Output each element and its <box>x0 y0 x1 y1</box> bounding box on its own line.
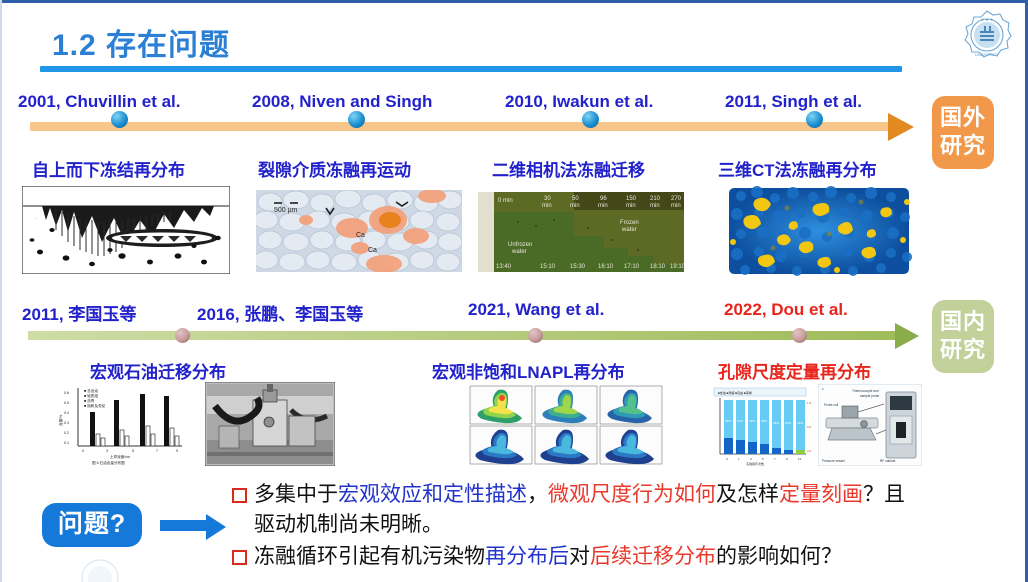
svg-text:Probe coil: Probe coil <box>824 403 838 407</box>
q2-seg3: 对 <box>569 545 590 568</box>
svg-text:0.3: 0.3 <box>64 421 69 425</box>
badge-foreign-line2: 研究 <box>932 132 994 160</box>
svg-text:0.1: 0.1 <box>64 441 69 445</box>
svg-text:500 µm: 500 µm <box>274 207 298 214</box>
svg-text:45%: 45% <box>725 419 731 423</box>
svg-text:Thermocouple and: Thermocouple and <box>852 389 879 393</box>
svg-text:Ca: Ca <box>356 232 365 239</box>
svg-text:32%: 32% <box>785 421 791 425</box>
svg-text:1.0: 1.0 <box>807 401 812 405</box>
q1-seg4: 微观尺度行为如何 <box>548 483 716 506</box>
svg-text:7: 7 <box>156 449 158 453</box>
svg-text:min: min <box>650 203 660 209</box>
question-bullet-1-line1: 多集中于宏观效应和定性描述，微观尺度行为如何及怎样定量刻画？且 <box>254 480 905 509</box>
svg-text:0 min: 0 min <box>498 198 513 204</box>
question-arrow-shaft <box>160 520 206 531</box>
timeline2-entry1-year: 2011, 李国玉等 <box>22 300 136 325</box>
timeline1-entry1-caption: 自上而下冻结再分布 <box>32 156 185 181</box>
watermark-seal-icon <box>78 556 122 582</box>
svg-text:min: min <box>542 203 552 209</box>
thumb-lnapl-contour-grid <box>468 384 664 466</box>
svg-text:50: 50 <box>572 196 579 202</box>
question-badge: 问题? <box>42 503 142 547</box>
svg-text:3: 3 <box>106 449 108 453</box>
timeline1-entry3-caption: 二维相机法冻融迁移 <box>492 156 645 181</box>
svg-text:0.4: 0.4 <box>64 411 69 415</box>
timeline1-marker-4[interactable] <box>806 111 823 128</box>
timeline2-arrowhead <box>895 323 919 349</box>
svg-text:Frozen: Frozen <box>620 220 639 226</box>
svg-text:■ 饱和及芳烃: ■ 饱和及芳烃 <box>84 403 106 408</box>
badge-domestic-line2: 研究 <box>932 336 994 364</box>
q1-line2-seg1: 驱动机制尚未明晰。 <box>254 513 443 536</box>
svg-text:■ 沥青: ■ 沥青 <box>84 398 95 403</box>
svg-text:17:10: 17:10 <box>624 264 640 270</box>
thumb-frozen-soil-schematic: ·· <box>22 186 230 274</box>
timeline1-entry1-year: 2001, Chuvillin et al. <box>18 92 181 112</box>
question-bullet-1-line2: 驱动机制尚未明晰。 <box>254 510 443 539</box>
thumb-ct-3d-render <box>717 182 922 280</box>
svg-text:■含油 ■残留 ■自由 ■束缚: ■含油 ■残留 ■自由 ■束缚 <box>718 390 752 395</box>
svg-text:water: water <box>621 227 637 233</box>
svg-text:含量/%: 含量/% <box>58 414 63 426</box>
svg-text:0.6: 0.6 <box>64 391 69 395</box>
question-bullet-2-line1: 冻融循环引起有机污染物再分布后对后续迁移分布的影响如何？ <box>254 542 842 571</box>
thumb-camera-timeseries: 0 min 30min 50min 96min 150min 210min 27… <box>478 192 684 272</box>
timeline2-marker-1[interactable] <box>175 328 190 343</box>
timeline1-bar <box>30 122 892 131</box>
timeline1-entry4-caption: 三维CT法冻融再分布 <box>718 156 877 181</box>
svg-text:0.5: 0.5 <box>807 425 812 429</box>
slide-border-top <box>0 0 1028 3</box>
timeline2-bar <box>28 331 898 340</box>
timeline1-entry2-year: 2008, Niven and Singh <box>252 92 432 112</box>
svg-text:19:10: 19:10 <box>670 264 684 270</box>
question-arrow-head <box>206 514 226 540</box>
badge-domestic-line1: 国内 <box>932 308 994 336</box>
svg-text:图 6 石油含量分布图: 图 6 石油含量分布图 <box>92 460 125 465</box>
svg-text:270: 270 <box>671 196 682 202</box>
svg-text:■ 总含油: ■ 总含油 <box>84 388 98 393</box>
q1-seg5: 及怎样 <box>716 483 779 506</box>
svg-text:38%: 38% <box>761 419 767 423</box>
svg-text:40%: 40% <box>749 419 755 423</box>
svg-text:150: 150 <box>626 196 637 202</box>
q1-seg7: ？且 <box>863 483 905 506</box>
svg-text:0.5: 0.5 <box>64 401 69 405</box>
q1-seg2: 宏观效应和定性描述 <box>338 483 527 506</box>
svg-text:210: 210 <box>650 196 661 202</box>
svg-text:42%: 42% <box>737 419 743 423</box>
svg-text:冻融循环次数: 冻融循环次数 <box>746 461 764 466</box>
thumb-pore-stacked-bar-chart: ■含油 ■残留 ■自由 ■束缚 45%42%40 <box>708 384 812 466</box>
svg-text:18:10: 18:10 <box>650 264 666 270</box>
svg-text:★ ★ ★: ★ ★ ★ <box>981 17 994 22</box>
badge-domestic-research: 国内 研究 <box>932 300 994 373</box>
svg-text:■ 轻质组: ■ 轻质组 <box>84 393 98 398</box>
slide-canvas: 1.2 存在问题 ★ ★ ★ UNIVERSITY 2001, Chuvilli… <box>0 0 1028 582</box>
svg-text:Pressure vessel: Pressure vessel <box>822 459 845 463</box>
timeline2-entry1-caption: 宏观石油迁移分布 <box>90 358 226 383</box>
page-title: 1.2 存在问题 <box>52 20 230 64</box>
svg-text:30: 30 <box>544 196 551 202</box>
badge-foreign-research: 国外 研究 <box>932 96 994 169</box>
q1-seg3: ， <box>527 483 548 506</box>
university-seal-icon: ★ ★ ★ UNIVERSITY <box>960 8 1014 62</box>
thumb-nmr-equipment-diagram: c Thermocouple and sample probe Probe co… <box>818 384 922 466</box>
svg-text:16:10: 16:10 <box>598 264 614 270</box>
timeline1-arrowhead <box>888 113 914 141</box>
svg-text:min: min <box>570 203 580 209</box>
svg-text:5: 5 <box>132 449 134 453</box>
svg-text:12: 12 <box>798 457 802 461</box>
q2-seg1: 冻融循环引起有机污染物 <box>254 545 485 568</box>
timeline1-marker-3[interactable] <box>582 111 599 128</box>
svg-text:UNIVERSITY: UNIVERSITY <box>975 52 999 57</box>
timeline1-entry3-year: 2010, Iwakun et al. <box>505 92 653 112</box>
thumb-lab-apparatus-photo: (c) 油污染模拟装置 <box>205 382 335 466</box>
timeline2-entry3-caption: 宏观非饱和LNAPL再分布 <box>432 358 625 383</box>
q1-seg1: 多集中于 <box>254 483 338 506</box>
timeline2-marker-3[interactable] <box>792 328 807 343</box>
q1-seg6: 定量刻画 <box>779 483 863 506</box>
timeline1-marker-2[interactable] <box>348 111 365 128</box>
svg-text:0: 0 <box>82 449 84 453</box>
svg-text:Unfrozen: Unfrozen <box>508 242 532 248</box>
svg-text:15:30: 15:30 <box>570 264 586 270</box>
svg-text:min: min <box>598 203 608 209</box>
timeline1-entry4-year: 2011, Singh et al. <box>725 92 862 112</box>
timeline2-marker-2[interactable] <box>528 328 543 343</box>
timeline2-entry2-year: 2016, 张鹏、李国玉等 <box>197 300 363 325</box>
svg-text:96: 96 <box>600 196 607 202</box>
timeline2-entry4-year: 2022, Dou et al. <box>724 300 848 320</box>
q2-seg2: 再分布后 <box>485 545 569 568</box>
svg-text:0.2: 0.2 <box>64 431 69 435</box>
thumb-fracture-micrograph: 500 µm Ca Ca <box>256 190 462 272</box>
svg-text:min: min <box>671 203 681 209</box>
svg-text:15:10: 15:10 <box>540 264 556 270</box>
svg-text:13:40: 13:40 <box>496 264 512 270</box>
svg-text:30%: 30% <box>797 421 803 425</box>
slide-border-left <box>0 0 2 582</box>
svg-text:土样深度/cm: 土样深度/cm <box>110 454 130 459</box>
thumb-oil-bar-chart: ■ 总含油 ■ 轻质组 ■ 沥青 ■ 饱和及芳烃 0.60.50.4 0.30.… <box>58 382 188 466</box>
timeline2-entry3-year: 2021, Wang et al. <box>468 300 604 320</box>
q2-seg5: 的影响如何？ <box>716 545 842 568</box>
title-underline <box>40 66 902 72</box>
question-bullet-2-marker <box>232 550 247 565</box>
svg-text:0.0: 0.0 <box>807 449 812 453</box>
svg-text:Ca: Ca <box>368 247 377 254</box>
svg-text:water: water <box>511 249 527 255</box>
question-bullet-1-marker <box>232 488 247 503</box>
svg-text:min: min <box>626 203 636 209</box>
timeline2-entry4-caption: 孔隙尺度定量再分布 <box>718 358 871 383</box>
q2-seg4: 后续迁移分布 <box>590 545 716 568</box>
timeline1-marker-1[interactable] <box>111 111 128 128</box>
svg-text:RF cabinet: RF cabinet <box>880 459 896 463</box>
svg-text:sample probe: sample probe <box>860 394 880 398</box>
svg-text:9: 9 <box>176 449 178 453</box>
svg-text:35%: 35% <box>773 421 779 425</box>
timeline1-entry2-caption: 裂隙介质冻融再运动 <box>258 156 411 181</box>
badge-foreign-line1: 国外 <box>932 104 994 132</box>
